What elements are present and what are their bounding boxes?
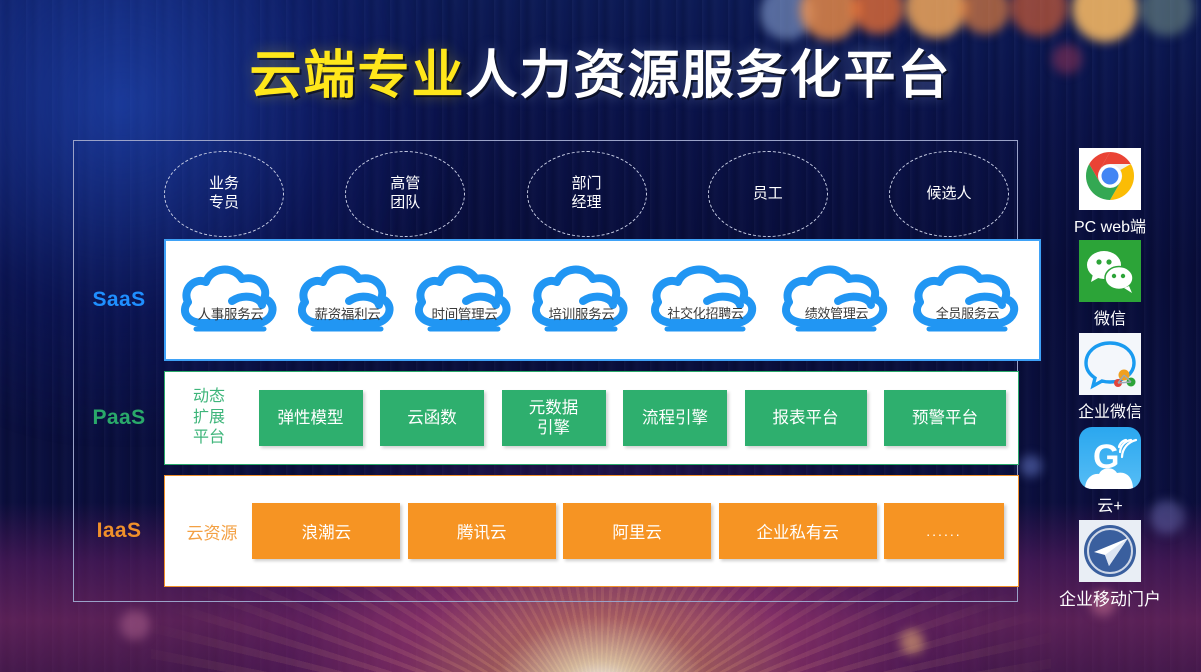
paas-box-label: 报表平台	[773, 408, 839, 428]
iaas-side-label: 云资源	[179, 519, 245, 544]
role-label-line1: 高管	[390, 175, 420, 194]
iaas-box-enterprise-private-cloud[interactable]: 企业私有云	[719, 503, 877, 559]
paas-side-label-line1: 动态	[177, 387, 241, 407]
channel-label: 微信	[1030, 305, 1190, 329]
channel-label: 企业微信	[1030, 398, 1190, 422]
channel-item-pc-web[interactable]: PC web端	[1030, 148, 1190, 237]
iaas-box-label: ......	[926, 523, 961, 539]
paas-box-label: 弹性模型	[278, 408, 344, 428]
iaas-box-tencent-cloud[interactable]: 腾讯云	[408, 503, 556, 559]
architecture-diagram-frame: 业务 专员 高管 团队 部门 经理 员工 候选人 SaaS	[73, 140, 1018, 602]
cloud-icon	[406, 257, 523, 343]
role-label-line1: 业务	[209, 175, 239, 194]
paas-box-alert-platform[interactable]: 预警平台	[884, 390, 1006, 446]
saas-panel: 人事服务云 薪资福利云 时间管理云	[164, 239, 1041, 361]
yunplus-icon: G	[1079, 427, 1141, 489]
paas-box-metadata-engine[interactable]: 元数据 引擎	[502, 390, 606, 446]
page-title-highlight: 云端专业	[249, 47, 465, 105]
channel-label: 云+	[1030, 492, 1190, 516]
saas-cloud-time-management[interactable]: 时间管理云	[406, 257, 523, 343]
chrome-icon	[1079, 148, 1141, 210]
paas-box-cloud-function[interactable]: 云函数	[380, 390, 484, 446]
bokeh-light	[900, 630, 924, 654]
paas-layer-label: PaaS	[74, 406, 164, 430]
cloud-icon	[523, 257, 640, 343]
saas-cloud-all-employee-service[interactable]: 全员服务云	[902, 257, 1033, 343]
saas-cloud-hr-service[interactable]: 人事服务云	[172, 257, 289, 343]
channel-item-yunplus[interactable]: G 云+	[1030, 427, 1190, 516]
role-label-line2: 专员	[209, 194, 239, 213]
role-badge-executive-team[interactable]: 高管 团队	[345, 151, 465, 237]
role-badge-business-specialist[interactable]: 业务 专员	[164, 151, 284, 237]
iaas-layer-label: IaaS	[74, 519, 164, 543]
paas-side-label-line3: 平台	[177, 428, 241, 448]
saas-cloud-label: 绩效管理云	[771, 303, 902, 322]
channel-label: 企业移动门户	[1030, 585, 1190, 610]
iaas-box-label: 浪潮云	[302, 519, 352, 543]
saas-cloud-label: 培训服务云	[523, 303, 640, 323]
role-label-line1: 部门	[571, 175, 601, 194]
paas-box-report-platform[interactable]: 报表平台	[745, 390, 867, 446]
role-badge-department-manager[interactable]: 部门 经理	[527, 151, 647, 237]
saas-cloud-label: 全员服务云	[902, 303, 1033, 322]
saas-cloud-label: 社交化招聘云	[640, 303, 771, 322]
cloud-icon	[289, 257, 406, 343]
iaas-panel: 云资源 浪潮云 腾讯云 阿里云 企业私有云 ......	[164, 475, 1019, 587]
iaas-box-label: 企业私有云	[756, 519, 839, 543]
paas-panel: 动态 扩展 平台 弹性模型 云函数 元数据 引擎 流程引擎 报表平台 预警平台	[164, 371, 1019, 465]
saas-cloud-label: 人事服务云	[172, 303, 289, 323]
iaas-box-inspur-cloud[interactable]: 浪潮云	[252, 503, 400, 559]
roles-row: 业务 专员 高管 团队 部门 经理 员工 候选人	[164, 149, 1009, 239]
paas-layer-row: PaaS 动态 扩展 平台 弹性模型 云函数 元数据 引擎 流程引擎 报表平台	[74, 371, 1019, 465]
role-label-line1: 候选人	[926, 185, 971, 204]
channel-item-wechat[interactable]: 微信	[1030, 240, 1190, 329]
iaas-box-label: 腾讯云	[457, 519, 507, 543]
bokeh-light	[120, 610, 150, 640]
saas-cloud-label: 薪资福利云	[289, 303, 406, 323]
iaas-layer-row: IaaS 云资源 浪潮云 腾讯云 阿里云 企业私有云 ......	[74, 475, 1019, 587]
paas-box-label: 预警平台	[912, 408, 978, 428]
paper-plane-icon	[1079, 520, 1141, 582]
enterprise-wechat-icon	[1079, 333, 1141, 395]
channel-item-mobile-portal[interactable]: 企业移动门户	[1030, 520, 1190, 610]
wechat-icon	[1079, 240, 1141, 302]
paas-box-label: 云函数	[407, 408, 457, 428]
paas-box-elastic-model[interactable]: 弹性模型	[259, 390, 363, 446]
cloud-icon	[640, 257, 771, 343]
saas-cloud-label: 时间管理云	[406, 303, 523, 323]
iaas-box-alibaba-cloud[interactable]: 阿里云	[563, 503, 711, 559]
paas-box-label: 流程引擎	[642, 408, 708, 428]
page-title-rest: 人力资源服务化平台	[466, 47, 952, 105]
saas-cloud-social-recruiting[interactable]: 社交化招聘云	[640, 257, 771, 343]
saas-layer-row: SaaS 人事服务云 薪资福利云	[74, 239, 1019, 361]
role-label-line1: 员工	[753, 185, 783, 204]
channel-item-enterprise-wechat[interactable]: 企业微信	[1030, 333, 1190, 422]
paas-side-label: 动态 扩展 平台	[177, 387, 241, 448]
role-badge-candidate[interactable]: 候选人	[889, 151, 1009, 237]
iaas-box-label: 阿里云	[612, 519, 662, 543]
channel-sidebar: PC web端 微信 企业	[1030, 140, 1190, 600]
saas-layer-label: SaaS	[74, 288, 164, 312]
saas-cloud-training-service[interactable]: 培训服务云	[523, 257, 640, 343]
cloud-icon	[771, 257, 902, 343]
paas-box-label-line1: 元数据	[529, 398, 579, 418]
paas-side-label-line2: 扩展	[177, 408, 241, 428]
role-badge-employee[interactable]: 员工	[708, 151, 828, 237]
iaas-box-more[interactable]: ......	[884, 503, 1004, 559]
saas-cloud-performance-management[interactable]: 绩效管理云	[771, 257, 902, 343]
cloud-icon	[902, 257, 1033, 343]
paas-box-label-line2: 引擎	[537, 418, 570, 438]
saas-cloud-payroll-benefits[interactable]: 薪资福利云	[289, 257, 406, 343]
page-title: 云端专业人力资源服务化平台	[0, 48, 1201, 105]
cloud-icon	[172, 257, 289, 343]
paas-box-process-engine[interactable]: 流程引擎	[623, 390, 727, 446]
role-label-line2: 团队	[390, 194, 420, 213]
role-label-line2: 经理	[571, 194, 601, 213]
channel-label: PC web端	[1030, 213, 1190, 237]
